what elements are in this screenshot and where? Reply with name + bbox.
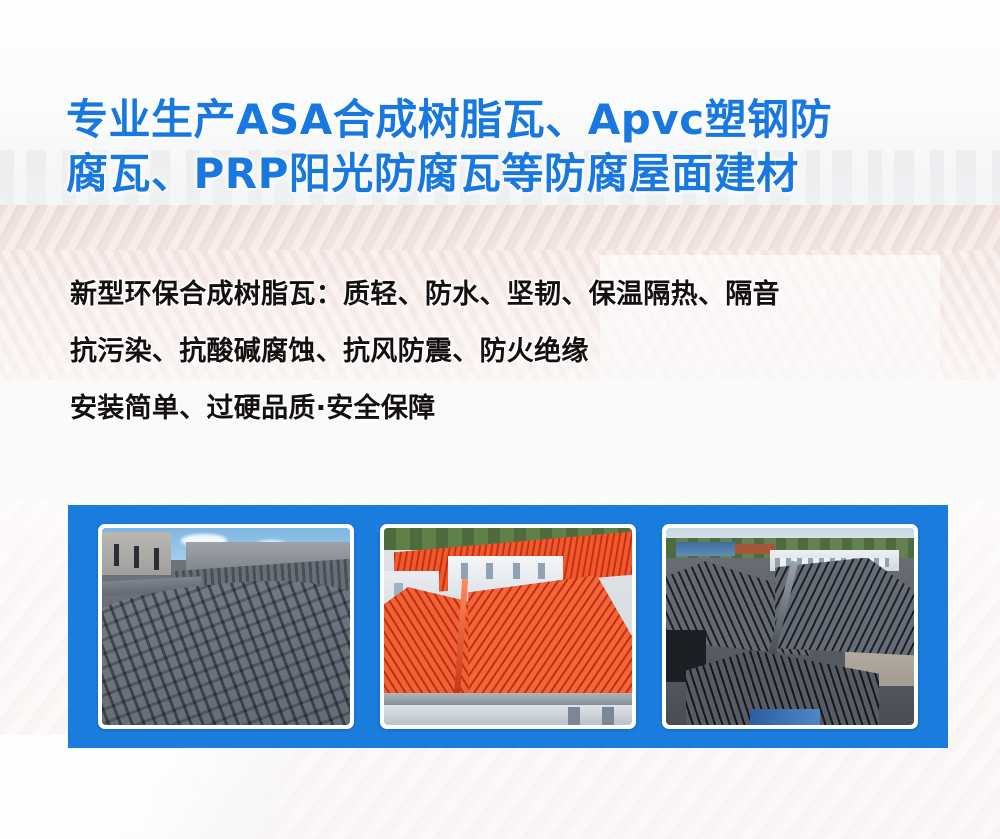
headline-line-1: 专业生产ASA合成树脂瓦、Apvc塑钢防: [66, 93, 946, 147]
photo1-window-3: [154, 548, 159, 570]
photo2-base-window-2: [602, 707, 614, 725]
subcopy: 新型环保合成树脂瓦：质轻、防水、坚韧、保温隔热、隔音 抗污染、抗酸碱腐蚀、抗风防…: [70, 275, 970, 428]
photo-frame-red-roof[interactable]: [380, 524, 636, 729]
headline-line-2: 腐瓦、PRP阳光防腐瓦等防腐屋面建材: [66, 147, 946, 201]
photo3-blue-building: [676, 542, 736, 556]
photo3-blue-tarp: [750, 709, 819, 725]
photo3-red-building: [735, 544, 775, 554]
photo1-window-1: [114, 544, 119, 566]
photo2-window-3: [513, 563, 520, 579]
photo2-window-1: [461, 563, 468, 579]
photo1-window-2: [134, 546, 139, 568]
subcopy-line-2: 抗污染、抗酸碱腐蚀、抗风防震、防火绝缘: [70, 332, 970, 371]
dark-resin-tile-roof-photo: [666, 528, 914, 725]
gallery-panel: [68, 505, 948, 748]
photo3-roof-slope-right: [775, 558, 914, 657]
photo2-hip-roof-right: [468, 575, 632, 697]
grey-resin-tile-roof-photo: [102, 528, 350, 725]
subcopy-line-1: 新型环保合成树脂瓦：质轻、防水、坚韧、保温隔热、隔音: [70, 275, 970, 314]
headline: 专业生产ASA合成树脂瓦、Apvc塑钢防 腐瓦、PRP阳光防腐瓦等防腐屋面建材: [66, 93, 946, 201]
gallery-row: [68, 505, 948, 748]
photo2-base-window-1: [568, 707, 580, 725]
photo2-window-4: [538, 563, 545, 579]
product-promo-banner: 专业生产ASA合成树脂瓦、Apvc塑钢防 腐瓦、PRP阳光防腐瓦等防腐屋面建材 …: [0, 0, 1000, 839]
red-resin-tile-roof-photo: [384, 528, 632, 725]
photo2-base-wall: [384, 705, 632, 725]
photo1-main-tile-roof: [102, 576, 350, 725]
photo2-window-2: [486, 563, 493, 579]
photo-frame-grey-roof[interactable]: [98, 524, 354, 729]
subcopy-line-3: 安装简单、过硬品质·安全保障: [70, 389, 970, 428]
photo-frame-dark-roof[interactable]: [662, 524, 918, 729]
